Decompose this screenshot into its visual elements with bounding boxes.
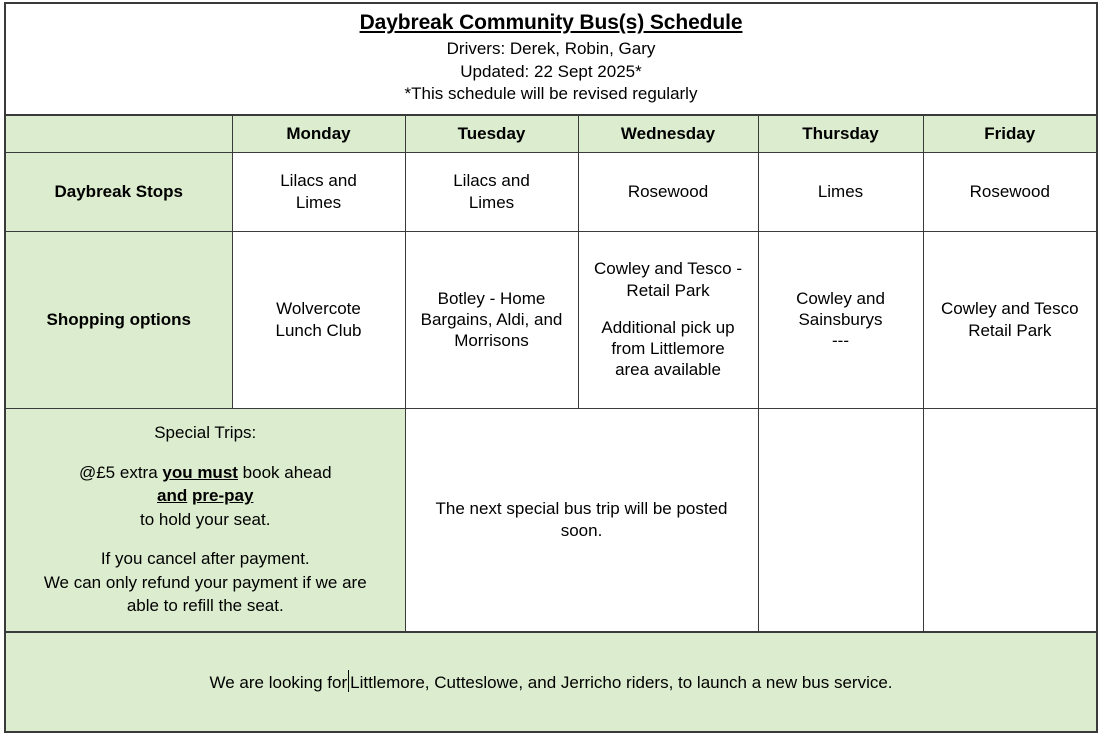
shopping-friday-text: Cowley and Tesco Retail Park	[930, 298, 1091, 341]
recruitment-banner: We are looking forLittlemore, Cutteslowe…	[5, 632, 1097, 732]
line: Morrisons	[412, 330, 572, 351]
special-trips-cancel-line-3: able to refill the seat.	[12, 594, 399, 617]
revision-note: *This schedule will be revised regularly	[12, 83, 1090, 105]
stops-cell-wednesday: Rosewood	[578, 152, 758, 231]
line: Cowley and Tesco	[930, 298, 1091, 319]
shopping-options-row: Shopping options Wolvercote Lunch Club B…	[5, 231, 1097, 408]
shopping-cell-wednesday: Cowley and Tesco - Retail Park Additiona…	[578, 231, 758, 408]
special-trips-cancel-line-1: If you cancel after payment.	[12, 547, 399, 570]
line: soon.	[412, 520, 752, 541]
title-block: Daybreak Community Bus(s) Schedule Drive…	[5, 3, 1097, 115]
special-trips-row: Special Trips: @£5 extra you must book a…	[5, 408, 1097, 632]
line: Wolvercote	[239, 298, 399, 319]
line: from Littlemore	[585, 338, 752, 359]
special-trips-cell: Special Trips: @£5 extra you must book a…	[5, 408, 405, 632]
day-header-row: Monday Tuesday Wednesday Thursday Friday	[5, 115, 1097, 153]
line: Retail Park	[930, 320, 1091, 341]
row-label-shopping-options: Shopping options	[5, 231, 232, 408]
next-special-trip-cell: The next special bus trip will be posted…	[405, 408, 758, 632]
corner-cell	[5, 115, 232, 153]
line: Lilacs and	[412, 170, 572, 191]
line: Bargains, Aldi, and	[412, 309, 572, 330]
shopping-cell-monday: Wolvercote Lunch Club	[232, 231, 405, 408]
stops-tuesday-text: Lilacs and Limes	[412, 170, 572, 213]
day-header-monday: Monday	[232, 115, 405, 153]
shopping-thursday-text: Cowley and Sainsburys ---	[765, 288, 917, 352]
special-trips-prepay-line: and pre-pay	[12, 484, 399, 507]
line: Sainsburys	[765, 309, 917, 330]
emphasis-pre-pay: pre-pay	[192, 486, 253, 505]
line: Additional pick up	[585, 317, 752, 338]
stops-cell-monday: Lilacs and Limes	[232, 152, 405, 231]
emphasis-and: and	[157, 486, 187, 505]
day-header-tuesday: Tuesday	[405, 115, 578, 153]
line: Retail Park	[585, 280, 752, 301]
price-prefix: @£5 extra	[79, 463, 162, 482]
daybreak-stops-row: Daybreak Stops Lilacs and Limes Lilacs a…	[5, 152, 1097, 231]
stops-wednesday-text: Rosewood	[585, 181, 752, 202]
special-trips-cancel-line-2: We can only refund your payment if we ar…	[12, 571, 399, 594]
row-label-daybreak-stops: Daybreak Stops	[5, 152, 232, 231]
stops-monday-text: Lilacs and Limes	[239, 170, 399, 213]
stops-cell-tuesday: Lilacs and Limes	[405, 152, 578, 231]
shopping-monday-text: Wolvercote Lunch Club	[239, 298, 399, 341]
special-trips-text: Special Trips: @£5 extra you must book a…	[12, 421, 399, 617]
price-suffix: book ahead	[238, 463, 332, 482]
shopping-cell-tuesday: Botley - Home Bargains, Aldi, and Morris…	[405, 231, 578, 408]
line: Limes	[765, 181, 917, 202]
day-header-wednesday: Wednesday	[578, 115, 758, 153]
special-empty-cell-thursday	[758, 408, 923, 632]
stops-cell-friday: Rosewood	[923, 152, 1097, 231]
stops-cell-thursday: Limes	[758, 152, 923, 231]
shopping-cell-thursday: Cowley and Sainsburys ---	[758, 231, 923, 408]
shopping-cell-friday: Cowley and Tesco Retail Park	[923, 231, 1097, 408]
line: Lilacs and	[239, 170, 399, 191]
line: Lunch Club	[239, 320, 399, 341]
line: The next special bus trip will be posted	[412, 498, 752, 519]
next-special-trip-text: The next special bus trip will be posted…	[412, 498, 752, 541]
stops-thursday-text: Limes	[765, 181, 917, 202]
drivers-line: Drivers: Derek, Robin, Gary	[12, 38, 1090, 60]
line: Cowley and Tesco -	[585, 258, 752, 279]
line: Cowley and	[765, 288, 917, 309]
line: Limes	[412, 192, 572, 213]
line: area available	[585, 359, 752, 380]
paragraph-gap	[12, 445, 399, 461]
schedule-table: Daybreak Community Bus(s) Schedule Drive…	[4, 2, 1098, 733]
emphasis-you-must: you must	[162, 463, 238, 482]
recruitment-banner-row: We are looking forLittlemore, Cutteslowe…	[5, 632, 1097, 732]
line: Rosewood	[930, 181, 1091, 202]
day-header-thursday: Thursday	[758, 115, 923, 153]
special-trips-price-line: @£5 extra you must book ahead	[12, 461, 399, 484]
special-empty-cell-friday	[923, 408, 1097, 632]
shopping-wednesday-text: Cowley and Tesco - Retail Park Additiona…	[585, 258, 752, 380]
line: Limes	[239, 192, 399, 213]
shopping-tuesday-text: Botley - Home Bargains, Aldi, and Morris…	[412, 288, 572, 352]
special-trips-hold-seat-line: to hold your seat.	[12, 508, 399, 531]
title-row: Daybreak Community Bus(s) Schedule Drive…	[5, 3, 1097, 115]
stops-friday-text: Rosewood	[930, 181, 1091, 202]
day-header-friday: Friday	[923, 115, 1097, 153]
banner-text-after-caret: Littlemore, Cutteslowe, and Jerricho rid…	[350, 673, 892, 692]
page-title: Daybreak Community Bus(s) Schedule	[12, 10, 1090, 36]
updated-line: Updated: 22 Sept 2025*	[12, 61, 1090, 83]
line: Rosewood	[585, 181, 752, 202]
line: ---	[765, 330, 917, 351]
paragraph-gap	[585, 301, 752, 317]
line: Botley - Home	[412, 288, 572, 309]
banner-text-before-caret: We are looking for	[210, 673, 348, 692]
special-trips-heading: Special Trips:	[12, 421, 399, 444]
paragraph-gap	[12, 531, 399, 547]
schedule-document: Daybreak Community Bus(s) Schedule Drive…	[0, 2, 1100, 683]
